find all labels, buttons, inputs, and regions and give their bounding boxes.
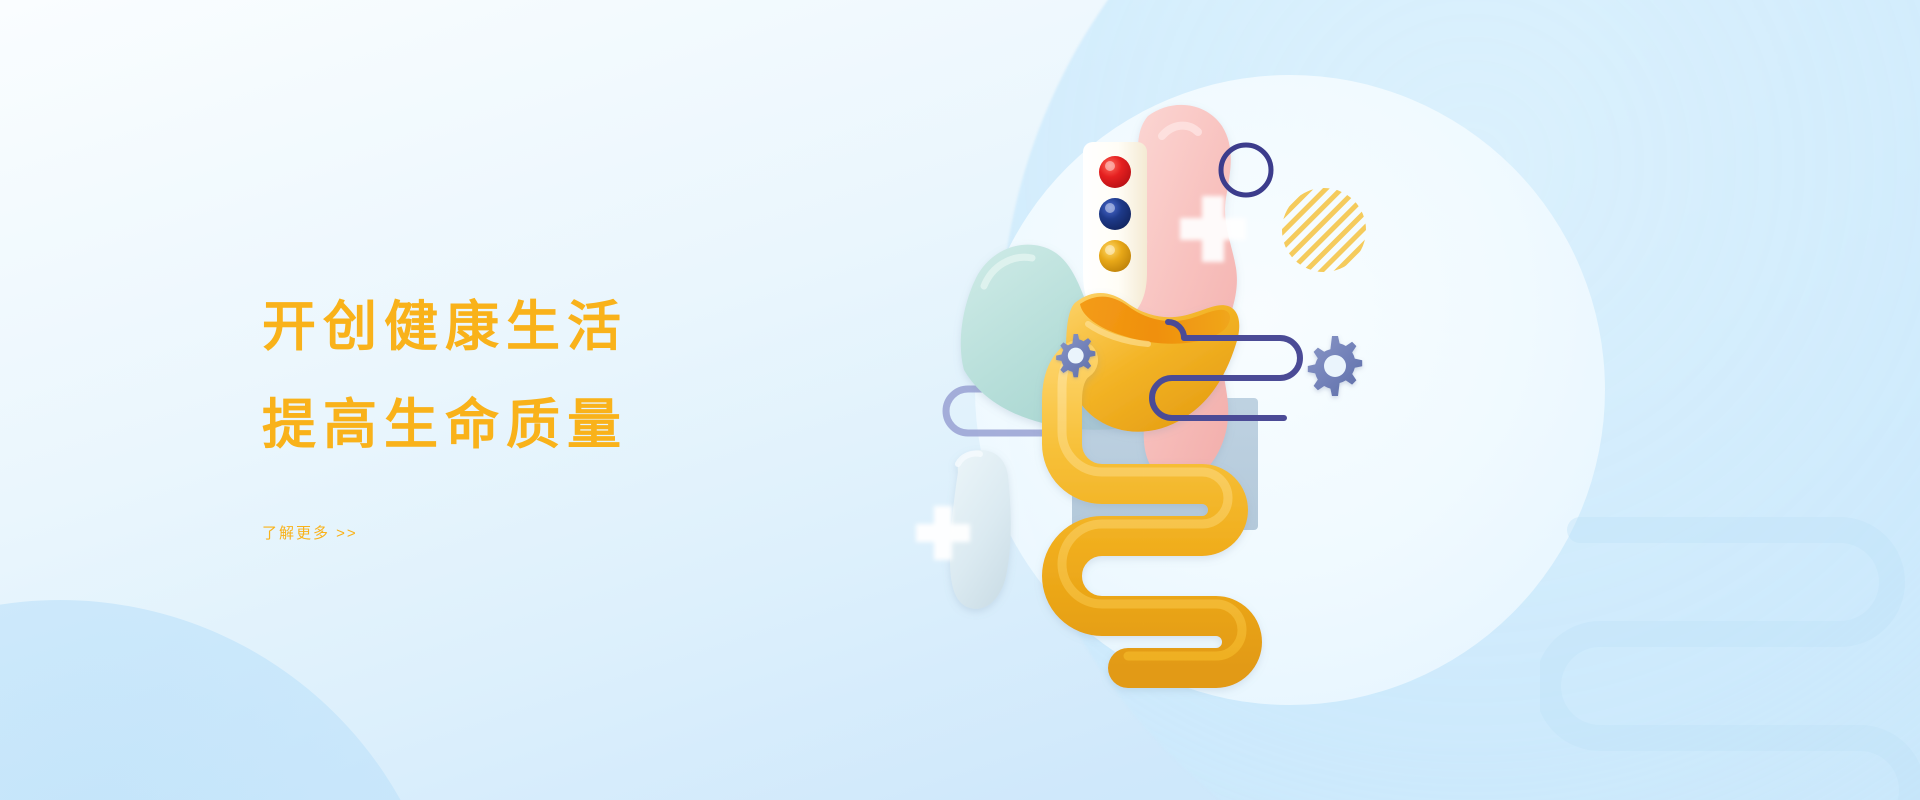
hero-banner: 开创健康生活 提高生命质量 了解更多 >>	[0, 0, 1920, 800]
hero-copy-block: 开创健康生活 提高生命质量 了解更多 >>	[262, 300, 882, 543]
background-intestine-watermark	[1540, 480, 1920, 800]
test-tube-samples	[1099, 156, 1131, 272]
background-circle-left	[0, 600, 450, 800]
headline-line-2: 提高生命质量	[262, 398, 882, 452]
hatched-circle-decor	[1278, 184, 1370, 276]
gear-icon-large	[1308, 336, 1362, 396]
sample-dot-gold	[1099, 240, 1131, 272]
learn-more-link[interactable]: 了解更多 >>	[262, 522, 358, 543]
digestive-health-illustration	[880, 40, 1580, 740]
headline-line-1: 开创健康生活	[262, 300, 882, 354]
sample-dot-navy	[1099, 198, 1131, 230]
sample-dot-red	[1099, 156, 1131, 188]
